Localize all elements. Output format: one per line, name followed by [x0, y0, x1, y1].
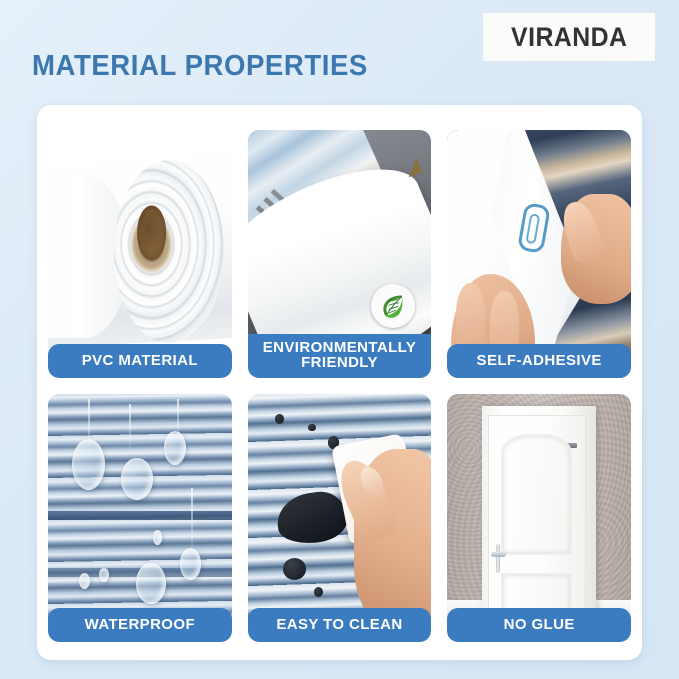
waterproof-image [48, 394, 232, 642]
page-title: MATERIAL PROPERTIES [32, 50, 368, 83]
feature-card-pvc-material[interactable]: PVC MATERIAL [48, 130, 232, 378]
feature-card-easy-to-clean[interactable]: EASY TO CLEAN [248, 394, 432, 642]
no-glue-door-image [447, 394, 631, 642]
self-adhesive-image [447, 130, 631, 378]
feature-label-environmentally-friendly: ENVIRONMENTALLY FRIENDLY [248, 334, 432, 378]
leaf-icon [371, 284, 415, 328]
feature-label-easy-to-clean: EASY TO CLEAN [248, 608, 432, 642]
door-handle-icon [491, 544, 506, 573]
feature-label-self-adhesive: SELF-ADHESIVE [447, 344, 631, 378]
feature-card-self-adhesive[interactable]: SELF-ADHESIVE [447, 130, 631, 378]
page-header: MATERIAL PROPERTIES VIRANDA [0, 0, 679, 105]
brand-logo: VIRANDA [483, 13, 655, 61]
feature-card-environmentally-friendly[interactable]: ENVIRONMENTALLY FRIENDLY [248, 130, 432, 378]
feature-label-waterproof: WATERPROOF [48, 608, 232, 642]
feature-label-line-2: FRIENDLY [301, 354, 378, 371]
feature-panel: PVC MATERIAL ENVIRONMENTALLY FRIEND [37, 105, 642, 660]
feature-label-line-1: ENVIRONMENTALLY [263, 339, 417, 356]
easy-to-clean-image [248, 394, 432, 642]
pvc-roll-image [48, 130, 232, 378]
brand-name: VIRANDA [511, 22, 627, 53]
feature-card-no-glue[interactable]: NO GLUE [447, 394, 631, 642]
feature-label-pvc-material: PVC MATERIAL [48, 344, 232, 378]
feature-grid: PVC MATERIAL ENVIRONMENTALLY FRIEND [48, 130, 631, 642]
feature-label-no-glue: NO GLUE [447, 608, 631, 642]
feature-card-waterproof[interactable]: WATERPROOF [48, 394, 232, 642]
